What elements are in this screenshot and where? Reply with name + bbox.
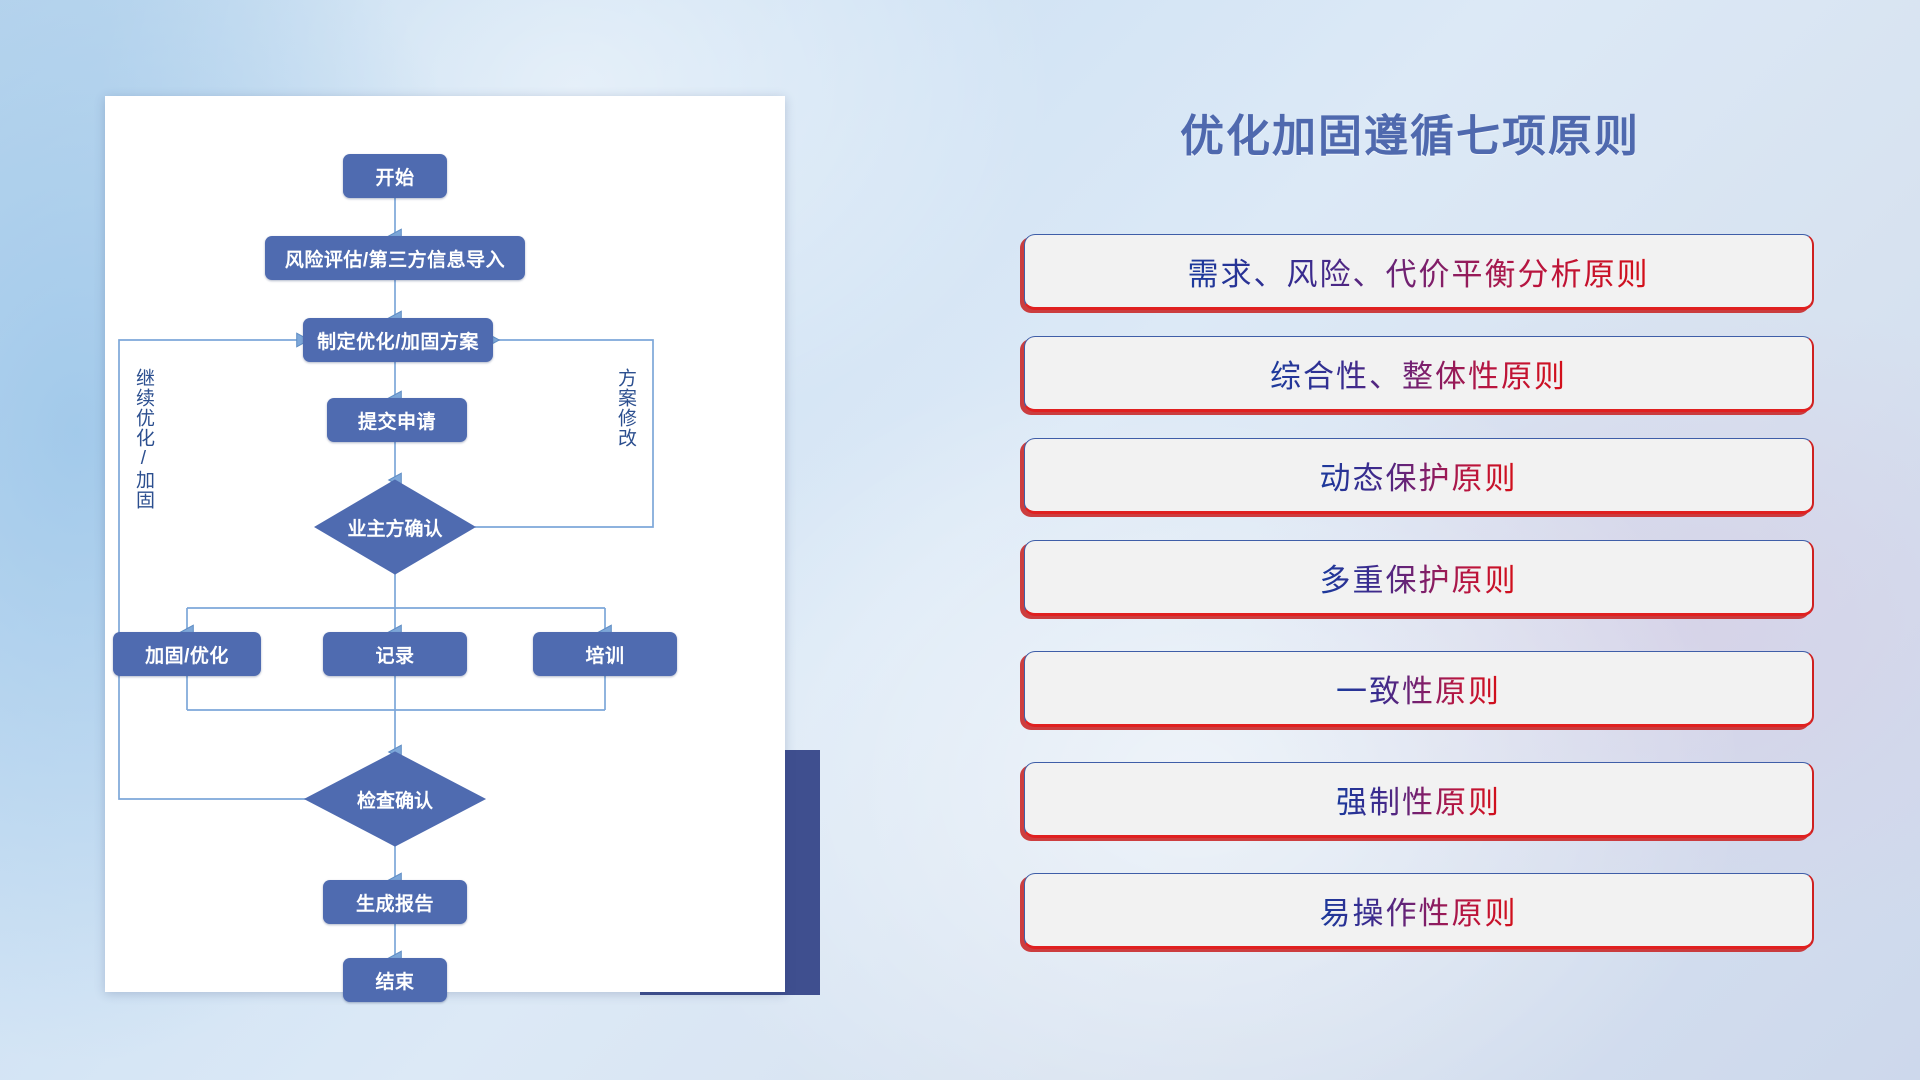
principle-label: 综合性、整体性原则 <box>1270 351 1567 396</box>
principle-label: 动态保护原则 <box>1320 453 1518 498</box>
principle-label: 易操作性原则 <box>1320 888 1518 933</box>
principle-label: 多重保护原则 <box>1320 555 1518 600</box>
principle-item-6[interactable]: 强制性原则 <box>1024 762 1814 838</box>
principles-panel: 优化加固遵循七项原则 需求、风险、代价平衡分析原则 综合性、整体性原则 动态保护… <box>1000 86 1820 1006</box>
principle-label: 强制性原则 <box>1336 777 1501 822</box>
principle-item-1[interactable]: 需求、风险、代价平衡分析原则 <box>1024 234 1814 310</box>
flow-node-label: 结束 <box>375 967 414 994</box>
edge-label-continue-optimize: 继续优化/加固 <box>133 368 153 548</box>
flowchart-connectors <box>105 96 785 992</box>
flow-node-make-plan[interactable]: 制定优化/加固方案 <box>303 318 493 362</box>
flow-node-label: 制定优化/加固方案 <box>317 327 479 354</box>
flow-node-label: 生成报告 <box>356 889 434 916</box>
flow-node-submit-application[interactable]: 提交申请 <box>327 398 467 442</box>
flow-node-label: 记录 <box>375 641 414 668</box>
principle-item-5[interactable]: 一致性原则 <box>1024 651 1814 727</box>
flow-node-record[interactable]: 记录 <box>323 632 467 676</box>
principle-item-4[interactable]: 多重保护原则 <box>1024 540 1814 616</box>
edge-label-plan-revision: 方案修改 <box>615 368 635 488</box>
panel-title: 优化加固遵循七项原则 <box>1000 100 1820 164</box>
flow-node-start[interactable]: 开始 <box>343 154 447 198</box>
decision-check-confirm-diamond <box>305 752 485 846</box>
flow-node-label: 开始 <box>375 163 414 190</box>
flow-node-label: 培训 <box>585 641 624 668</box>
flow-node-risk-assessment[interactable]: 风险评估/第三方信息导入 <box>265 236 525 280</box>
flow-node-label: 提交申请 <box>358 407 436 434</box>
slide-canvas: 开始 风险评估/第三方信息导入 制定优化/加固方案 提交申请 业主方确认 加固/… <box>0 0 1920 1080</box>
flow-node-generate-report[interactable]: 生成报告 <box>323 880 467 924</box>
principle-item-3[interactable]: 动态保护原则 <box>1024 438 1814 514</box>
flow-node-label: 加固/优化 <box>145 641 229 668</box>
principle-item-2[interactable]: 综合性、整体性原则 <box>1024 336 1814 412</box>
principle-item-7[interactable]: 易操作性原则 <box>1024 873 1814 949</box>
flow-node-training[interactable]: 培训 <box>533 632 677 676</box>
principle-label: 需求、风险、代价平衡分析原则 <box>1188 249 1650 294</box>
flow-node-end[interactable]: 结束 <box>343 958 447 1002</box>
flowchart-card: 开始 风险评估/第三方信息导入 制定优化/加固方案 提交申请 业主方确认 加固/… <box>105 96 785 992</box>
flow-node-label: 风险评估/第三方信息导入 <box>285 245 505 272</box>
flow-node-reinforce-optimize[interactable]: 加固/优化 <box>113 632 261 676</box>
principle-label: 一致性原则 <box>1336 666 1501 711</box>
decision-owner-confirm-diamond <box>315 480 475 574</box>
